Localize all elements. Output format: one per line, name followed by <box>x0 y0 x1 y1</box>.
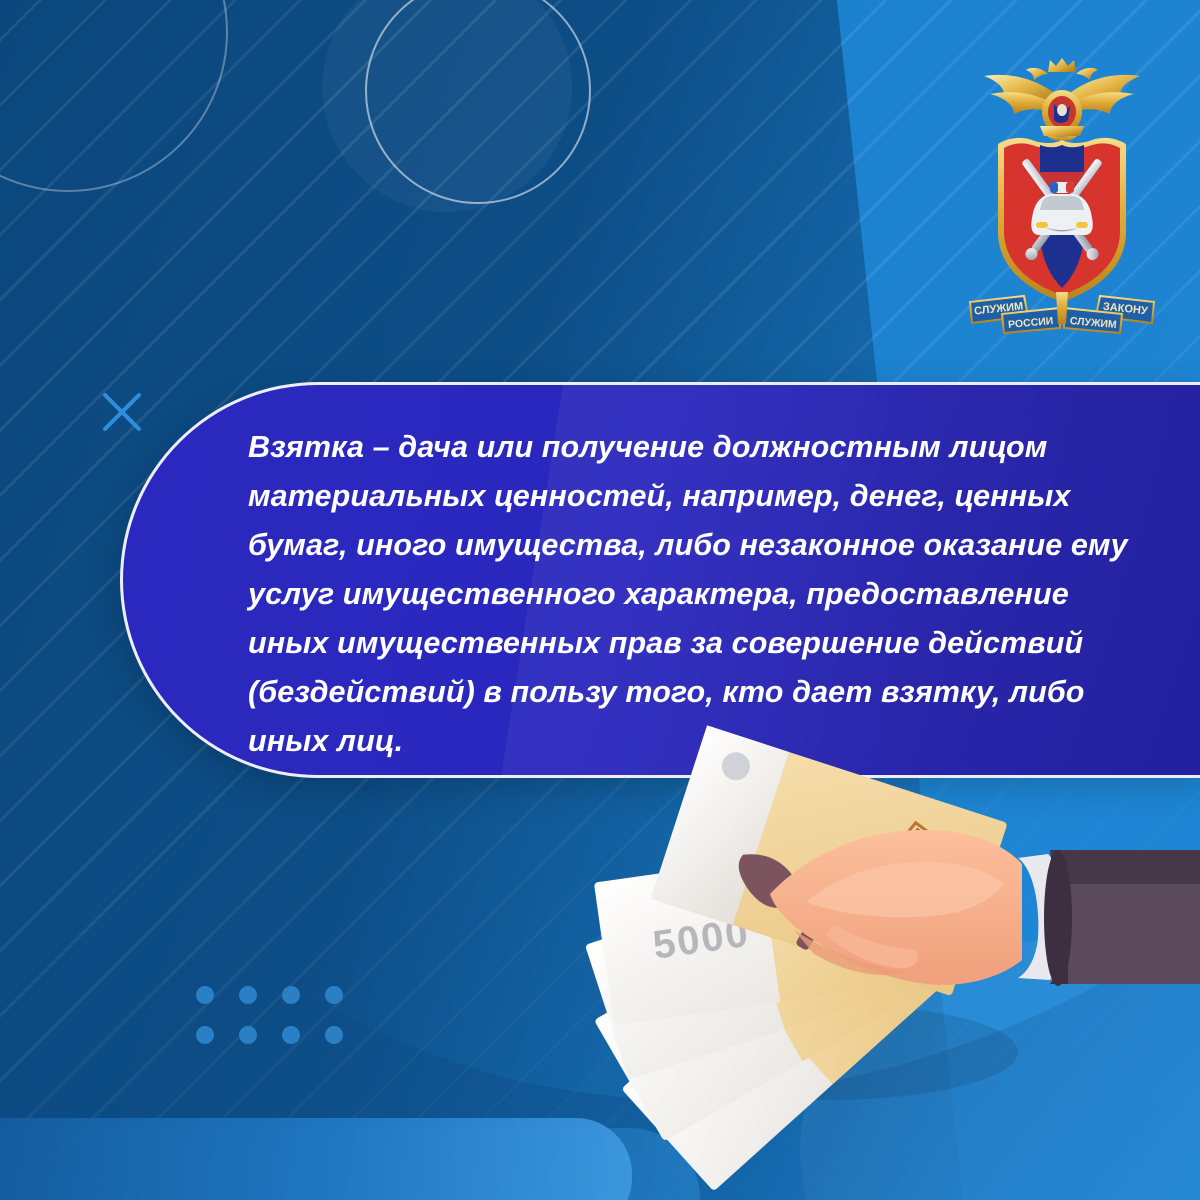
hand-with-money-illustration: 5000 5000 1000 <box>598 752 1200 1152</box>
decor-x-icon <box>96 386 148 438</box>
decor-dot <box>325 1026 343 1044</box>
definition-card: Взятка – дача или получение должностным … <box>120 382 1200 778</box>
decor-dot <box>239 1026 257 1044</box>
decor-dot <box>282 986 300 1004</box>
eagle-icon <box>984 58 1140 141</box>
suit-sleeve <box>1044 850 1200 986</box>
decor-dot <box>239 986 257 1004</box>
poster-canvas: СЛУЖИМ ЗАКОНУ РОССИИ СЛУЖИМ Взятка – дач… <box>0 0 1200 1200</box>
russian-police-emblem-icon: СЛУЖИМ ЗАКОНУ РОССИИ СЛУЖИМ <box>962 52 1162 334</box>
decor-bottom-bar <box>0 1118 632 1200</box>
decor-dot <box>196 986 214 1004</box>
decor-dot <box>196 1026 214 1044</box>
decor-dot-grid <box>196 986 343 1044</box>
definition-text: Взятка – дача или получение должностным … <box>248 423 1153 766</box>
decor-dot <box>325 986 343 1004</box>
decor-dot <box>282 1026 300 1044</box>
motto-ribbon: СЛУЖИМ ЗАКОНУ РОССИИ СЛУЖИМ <box>970 292 1154 333</box>
